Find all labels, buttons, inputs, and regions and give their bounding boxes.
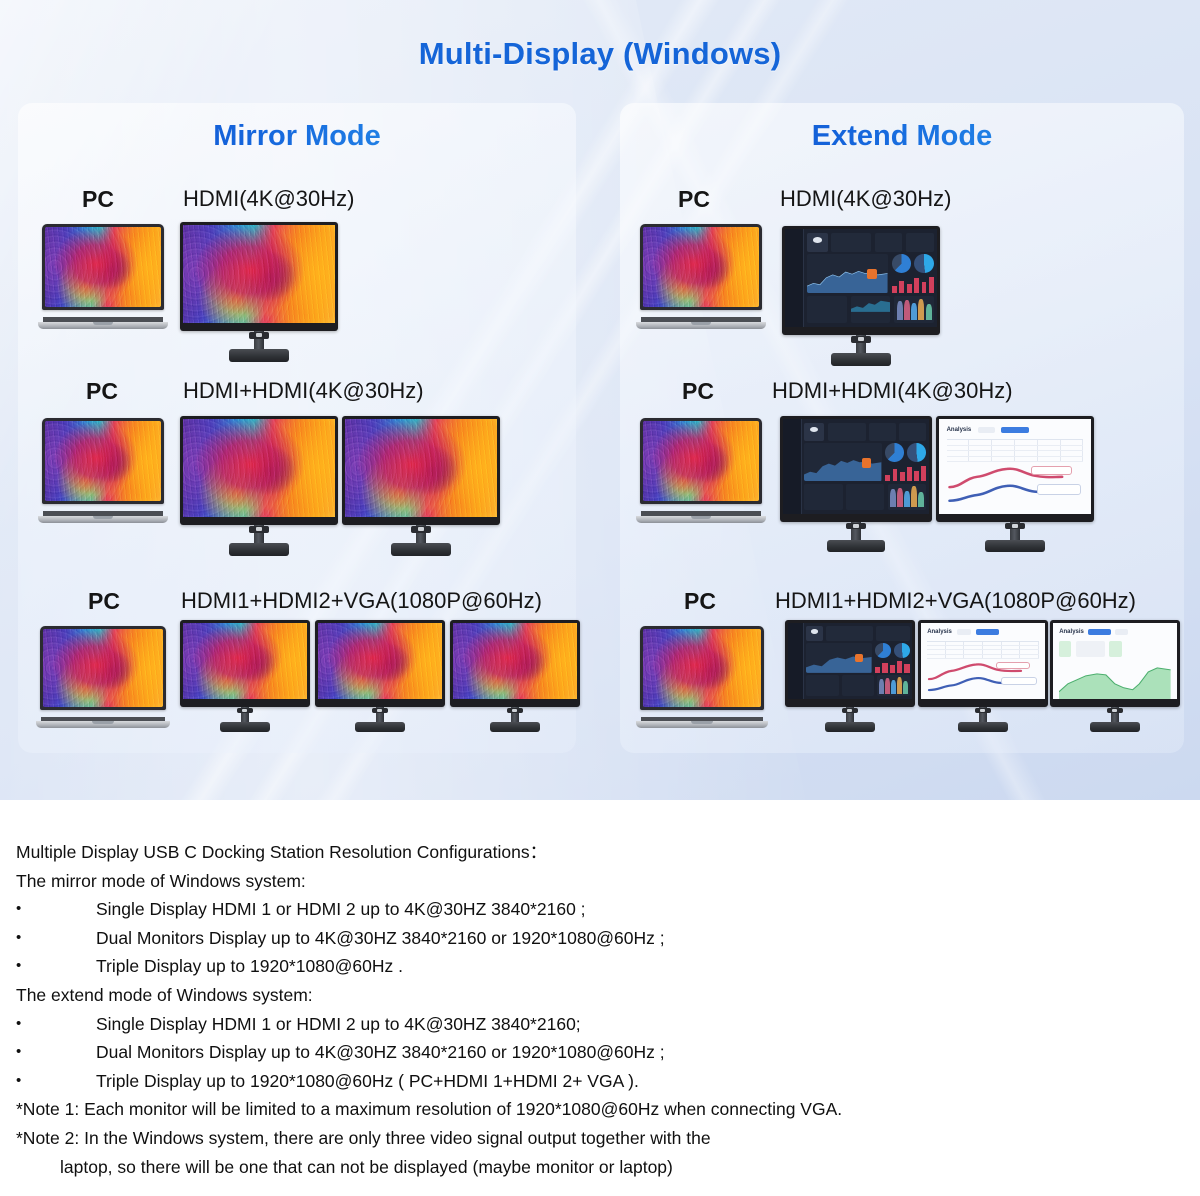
monitor-screen: Analysis — [939, 419, 1091, 514]
wallpaper-art — [45, 421, 161, 501]
laptop-device — [636, 626, 768, 728]
monitor-device — [450, 620, 580, 732]
wallpaper-art — [43, 629, 163, 707]
dashboard-sidebar — [783, 419, 802, 514]
mini-area-svg — [851, 296, 891, 312]
monitor-stand-neck — [1111, 707, 1119, 723]
monitor-screen — [783, 419, 929, 514]
analysis-title: Analysis — [947, 427, 972, 433]
monitor-device — [180, 620, 310, 732]
monitor-stand-neck — [241, 707, 249, 723]
analysis-header: Analysis — [1059, 629, 1171, 635]
monitor-device — [780, 416, 932, 552]
area-chart — [807, 254, 888, 293]
user-avatar-icon — [806, 626, 823, 641]
extend-row-1-labels: PC HDMI(4K@30Hz) — [620, 186, 1184, 220]
dashboard-main — [804, 229, 937, 327]
people-illustration — [877, 675, 909, 696]
wallpaper-art — [183, 225, 335, 323]
wallpaper-art — [45, 227, 161, 307]
green-area-chart — [1059, 660, 1171, 699]
laptop-lid — [42, 418, 164, 504]
label-config: HDMI1+HDMI2+VGA(1080P@60Hz) — [775, 588, 1136, 614]
monitor-stand-base — [1090, 722, 1139, 732]
dashboard-bottom-row — [804, 484, 926, 510]
monitor-screen — [788, 623, 912, 699]
monitor-stand-neck — [511, 707, 519, 723]
toolbar-chip — [957, 629, 970, 635]
monitor-stand-base — [985, 540, 1045, 552]
label-pc: PC — [82, 186, 114, 213]
dashboard-sidebar — [788, 623, 804, 699]
donut-chart — [892, 254, 912, 273]
dashboard-mid-row — [807, 254, 934, 293]
donut-charts — [892, 254, 934, 273]
bar-chart — [885, 464, 926, 481]
toolbar-chip — [978, 427, 994, 433]
list-item-text: Dual Monitors Display up to 4K@30HZ 3840… — [96, 924, 665, 953]
analysis-header: Analysis — [947, 427, 1084, 433]
label-config: HDMI(4K@30Hz) — [780, 186, 951, 212]
line-panel — [842, 675, 874, 696]
dashboard-top-cards — [807, 233, 934, 252]
analysis-title: Analysis — [927, 629, 952, 635]
line-panel — [846, 484, 884, 510]
laptop-device — [636, 224, 766, 329]
laptop-base — [36, 721, 170, 728]
monitor-device — [180, 222, 338, 362]
laptop-screen — [45, 421, 161, 501]
analysis-line-chart — [947, 462, 1084, 508]
scatter-panel — [806, 675, 838, 696]
poster-root: Multi-Display (Windows) Mirror Mode Exte… — [0, 0, 1200, 1196]
monitor-stand-neck — [856, 335, 865, 355]
toolbar-chip — [1115, 629, 1128, 635]
area-chart-svg — [1059, 660, 1171, 699]
monitor-device — [180, 416, 338, 556]
label-pc: PC — [86, 378, 118, 405]
monitor-stand-base — [355, 722, 404, 732]
mirror-row-2-labels: PC HDMI+HDMI(4K@30Hz) — [18, 378, 576, 412]
bullet-icon: • — [16, 952, 30, 981]
extend-row-2-labels: PC HDMI+HDMI(4K@30Hz) — [620, 378, 1184, 412]
extend-row-3-labels: PC HDMI1+HDMI2+VGA(1080P@60Hz) — [620, 588, 1184, 622]
monitor-bezel — [180, 620, 310, 707]
list-item: • Triple Display up to 1920*1080@60Hz ( … — [16, 1067, 1184, 1096]
dark-dashboard-screen — [788, 623, 912, 699]
monitor-stand-base — [229, 349, 289, 362]
wallpaper-art — [345, 419, 497, 517]
laptop-base — [636, 322, 766, 329]
donut-chart — [907, 443, 926, 462]
monitor-device — [342, 416, 500, 556]
page-title: Multi-Display (Windows) — [0, 36, 1200, 72]
bullet-icon: • — [16, 895, 30, 924]
monitor-screen: Analysis — [1053, 623, 1177, 699]
specs-heading: Multiple Display USB C Docking Station R… — [16, 838, 1184, 867]
mirror-row-1-labels: PC HDMI(4K@30Hz) — [18, 186, 576, 220]
donut-chart — [914, 254, 934, 273]
monitor-stand-base — [220, 722, 269, 732]
monitor-screen — [183, 225, 335, 323]
wallpaper-art — [183, 419, 335, 517]
user-avatar-icon — [804, 423, 823, 441]
list-item-text: Single Display HDMI 1 or HDMI 2 up to 4K… — [96, 1010, 581, 1039]
toolbar-chip-active — [976, 629, 998, 635]
laptop-device — [36, 626, 170, 728]
monitor-device: Analysis — [1050, 620, 1180, 732]
dashboard-card — [876, 626, 909, 641]
donut-chart — [875, 643, 891, 658]
user-avatar-icon — [807, 233, 827, 252]
wallpaper-art — [453, 623, 577, 699]
people-panel — [877, 675, 909, 696]
dashboard-top-cards — [804, 423, 926, 441]
monitor-device: Analysis — [936, 416, 1094, 552]
dashboard-mid-row — [804, 443, 926, 481]
metric-chip — [1059, 641, 1071, 657]
laptop-screen — [43, 629, 163, 707]
laptop-base — [636, 721, 768, 728]
monitor-stand-base — [391, 543, 451, 556]
chart-tooltip — [1037, 484, 1081, 495]
panel-title-extend: Extend Mode — [620, 120, 1184, 153]
dashboard-card — [828, 423, 866, 441]
laptop-device — [38, 224, 168, 329]
highlight-block — [855, 654, 863, 662]
bullet-icon: • — [16, 924, 30, 953]
monitor-screen: Analysis — [921, 623, 1045, 699]
specifications-section: Multiple Display USB C Docking Station R… — [0, 800, 1200, 1196]
laptop-screen — [45, 227, 161, 307]
monitor-stand-base — [490, 722, 539, 732]
scatter-panel — [804, 484, 842, 510]
analysis-dashboard-screen: Analysis — [921, 623, 1045, 699]
note-2: *Note 2: In the Windows system, there ar… — [16, 1124, 1184, 1153]
dashboard-bottom-row — [806, 675, 909, 696]
note-2-continuation: laptop, so there will be one that can no… — [16, 1153, 1184, 1182]
dashboard-right-col — [892, 254, 934, 293]
monitor-stand-base — [825, 722, 874, 732]
analysis-table — [947, 439, 1084, 462]
monitor-screen — [183, 623, 307, 699]
chart-tooltip — [1031, 466, 1072, 475]
wallpaper-art — [318, 623, 442, 699]
laptop-device — [38, 418, 168, 523]
label-config: HDMI(4K@30Hz) — [183, 186, 354, 212]
dashboard-card — [826, 626, 873, 641]
list-item: • Triple Display up to 1920*1080@60Hz . — [16, 952, 1184, 981]
chart-tooltip — [996, 662, 1029, 669]
laptop-lid — [40, 626, 166, 710]
monitor-bezel: Analysis — [936, 416, 1094, 522]
monitor-bezel — [782, 226, 940, 335]
dashboard-main — [804, 623, 912, 699]
monitor-stand-base — [958, 722, 1007, 732]
area-chart — [804, 443, 881, 481]
laptop-base — [38, 516, 168, 523]
wallpaper-art — [183, 623, 307, 699]
monitor-bezel: Analysis — [1050, 620, 1180, 707]
analysis-title: Analysis — [1059, 629, 1084, 635]
green-analysis-screen: Analysis — [1053, 623, 1177, 699]
label-pc: PC — [682, 378, 714, 405]
laptop-screen — [643, 629, 761, 707]
line-panel — [851, 296, 891, 323]
panel-title-mirror: Mirror Mode — [18, 120, 576, 153]
label-config: HDMI+HDMI(4K@30Hz) — [183, 378, 424, 404]
list-item: • Dual Monitors Display up to 4K@30HZ 38… — [16, 1038, 1184, 1067]
mirror-row-3-labels: PC HDMI1+HDMI2+VGA(1080P@60Hz) — [18, 588, 576, 622]
dark-dashboard-screen — [783, 419, 929, 514]
analysis-header: Analysis — [927, 629, 1039, 635]
laptop-screen — [643, 421, 759, 501]
people-illustration — [888, 484, 926, 510]
list-item: • Dual Monitors Display up to 4K@30HZ 38… — [16, 924, 1184, 953]
monitor-screen — [183, 419, 335, 517]
people-panel — [894, 296, 934, 323]
bullet-icon: • — [16, 1038, 30, 1067]
monitor-screen — [318, 623, 442, 699]
laptop-lid — [640, 224, 762, 310]
scatter-panel — [807, 296, 847, 323]
monitor-bezel — [785, 620, 915, 707]
dark-dashboard-screen — [785, 229, 937, 327]
list-item-text: Triple Display up to 1920*1080@60Hz ( PC… — [96, 1067, 639, 1096]
hero-graphic-section: Multi-Display (Windows) Mirror Mode Exte… — [0, 0, 1200, 800]
donut-chart — [894, 643, 910, 658]
analysis-table — [927, 641, 1039, 659]
wallpaper-art — [643, 421, 759, 501]
toolbar-chip-active — [1088, 629, 1110, 635]
laptop-lid — [640, 418, 762, 504]
people-panel — [888, 484, 926, 510]
highlight-block — [862, 458, 871, 468]
dashboard-card — [831, 233, 871, 252]
laptop-lid — [42, 224, 164, 310]
monitor-stand-base — [827, 540, 885, 552]
highlight-block — [867, 269, 877, 279]
analysis-line-chart — [927, 659, 1039, 696]
extend-mode-heading: The extend mode of Windows system: — [16, 981, 1184, 1010]
monitor-bezel — [450, 620, 580, 707]
laptop-lid — [640, 626, 764, 710]
monitor-screen — [345, 419, 497, 517]
donut-chart — [885, 443, 904, 462]
chart-tooltip — [1001, 677, 1037, 686]
dashboard-bottom-row — [807, 296, 934, 323]
list-item: • Single Display HDMI 1 or HDMI 2 up to … — [16, 895, 1184, 924]
laptop-base — [636, 516, 766, 523]
dashboard-top-cards — [806, 626, 909, 641]
bullet-icon: • — [16, 1067, 30, 1096]
monitor-device — [315, 620, 445, 732]
toolbar-chip-active — [1001, 427, 1028, 433]
monitor-stand-base — [831, 353, 891, 366]
monitor-stand-neck — [851, 522, 860, 541]
donut-charts — [885, 443, 926, 462]
dashboard-card — [906, 233, 934, 252]
monitor-stand-neck — [979, 707, 987, 723]
monitor-stand-neck — [376, 707, 384, 723]
label-config: HDMI+HDMI(4K@30Hz) — [772, 378, 1013, 404]
metric-chip — [1109, 641, 1121, 657]
monitor-bezel — [780, 416, 932, 522]
list-item-text: Dual Monitors Display up to 4K@30HZ 3840… — [96, 1038, 665, 1067]
monitor-stand-neck — [846, 707, 854, 723]
monitor-stand-base — [229, 543, 289, 556]
monitor-bezel: Analysis — [918, 620, 1048, 707]
label-config: HDMI1+HDMI2+VGA(1080P@60Hz) — [181, 588, 542, 614]
wallpaper-art — [643, 629, 761, 707]
monitor-device — [785, 620, 915, 732]
laptop-screen — [643, 227, 759, 307]
monitor-stand-neck — [254, 525, 263, 545]
wallpaper-art — [643, 227, 759, 307]
people-illustration — [894, 296, 934, 323]
dashboard-right-col — [885, 443, 926, 481]
metric-chip — [1076, 641, 1105, 657]
donut-charts — [875, 643, 910, 658]
label-pc: PC — [684, 588, 716, 615]
dashboard-card — [869, 423, 896, 441]
label-pc: PC — [88, 588, 120, 615]
laptop-device — [636, 418, 766, 523]
monitor-screen — [785, 229, 937, 327]
metric-chips — [1059, 641, 1171, 657]
bullet-icon: • — [16, 1010, 30, 1039]
list-item: • Single Display HDMI 1 or HDMI 2 up to … — [16, 1010, 1184, 1039]
dashboard-card — [899, 423, 926, 441]
analysis-dashboard-screen: Analysis — [939, 419, 1091, 514]
monitor-stand-neck — [416, 525, 425, 545]
dashboard-mid-row — [806, 643, 909, 673]
monitor-stand-neck — [254, 331, 263, 351]
mirror-mode-heading: The mirror mode of Windows system: — [16, 867, 1184, 896]
bar-chart — [892, 276, 934, 294]
dashboard-main — [802, 419, 930, 514]
monitor-stand-neck — [1010, 522, 1019, 541]
dashboard-sidebar — [785, 229, 804, 327]
monitor-device — [782, 226, 940, 366]
monitor-bezel — [342, 416, 500, 525]
monitor-bezel — [180, 416, 338, 525]
dashboard-right-col — [875, 643, 910, 673]
note-1: *Note 1: Each monitor will be limited to… — [16, 1095, 1184, 1124]
list-item-text: Single Display HDMI 1 or HDMI 2 up to 4K… — [96, 895, 586, 924]
monitor-device: Analysis — [918, 620, 1048, 732]
bar-chart — [875, 659, 910, 673]
monitor-bezel — [315, 620, 445, 707]
list-item-text: Triple Display up to 1920*1080@60Hz . — [96, 952, 403, 981]
monitor-screen — [453, 623, 577, 699]
area-chart — [806, 643, 872, 673]
laptop-base — [38, 322, 168, 329]
monitor-bezel — [180, 222, 338, 331]
label-pc: PC — [678, 186, 710, 213]
dashboard-card — [875, 233, 903, 252]
